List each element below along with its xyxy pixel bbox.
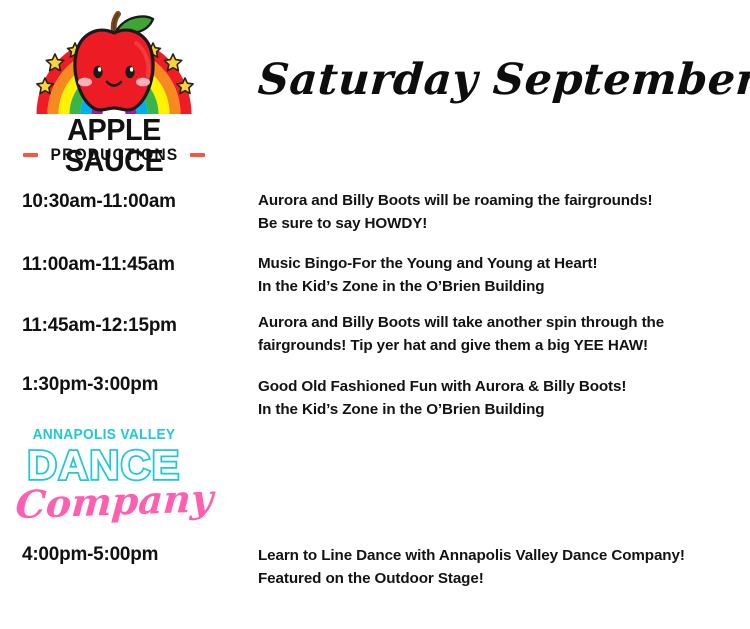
schedule-description-line: Aurora and Billy Boots will be roaming t…	[258, 189, 728, 212]
schedule-time: 11:00am-11:45am	[22, 252, 175, 276]
schedule-description: Aurora and Billy Boots will take another…	[258, 311, 728, 357]
dance-logo-bottom-line: Company	[14, 478, 197, 526]
schedule-time: 1:30pm-3:00pm	[22, 372, 158, 396]
apple-sauce-productions-logo: APPLE SAUCE PRODUCTIONS	[14, 10, 214, 168]
schedule-description: Aurora and Billy Boots will be roaming t…	[258, 189, 728, 235]
schedule-description-line: Be sure to say HOWDY!	[258, 212, 728, 235]
schedule-description-line: fairgrounds! Tip yer hat and give them a…	[258, 334, 728, 357]
schedule-description-line: In the Kid’s Zone in the O’Brien Buildin…	[258, 398, 728, 421]
annapolis-valley-dance-company-logo: ANNAPOLIS VALLEY DANCE Company	[14, 428, 194, 528]
schedule-description-line: In the Kid’s Zone in the O’Brien Buildin…	[258, 275, 728, 298]
schedule-poster: APPLE SAUCE PRODUCTIONS Saturday Septemb…	[0, 0, 750, 629]
logo-subtitle: PRODUCTIONS	[50, 146, 178, 163]
schedule-description: Music Bingo-For the Young and Young at H…	[258, 252, 728, 298]
dash-left-icon	[23, 153, 38, 157]
schedule-description-line: Aurora and Billy Boots will take another…	[258, 311, 728, 334]
schedule-description: Good Old Fashioned Fun with Aurora & Bil…	[258, 375, 728, 421]
apple-rainbow-artwork	[14, 10, 214, 122]
schedule-description-line: Learn to Line Dance with Annapolis Valle…	[258, 544, 728, 567]
schedule-description-line: Music Bingo-For the Young and Young at H…	[258, 252, 728, 275]
schedule-time: 4:00pm-5:00pm	[22, 542, 158, 566]
dash-right-icon	[190, 153, 205, 157]
schedule-time: 11:45am-12:15pm	[22, 313, 177, 337]
schedule-description-line: Featured on the Outdoor Stage!	[258, 567, 728, 590]
apple-icon	[75, 14, 153, 110]
schedule-time: 10:30am-11:00am	[22, 189, 176, 213]
schedule-description: Learn to Line Dance with Annapolis Valle…	[258, 544, 728, 590]
dance-logo-top-line: ANNAPOLIS VALLEY	[19, 428, 190, 443]
logo-subtitle-row: PRODUCTIONS	[14, 146, 214, 163]
schedule-description-line: Good Old Fashioned Fun with Aurora & Bil…	[258, 375, 728, 398]
page-title: Saturday September 13	[256, 50, 730, 112]
